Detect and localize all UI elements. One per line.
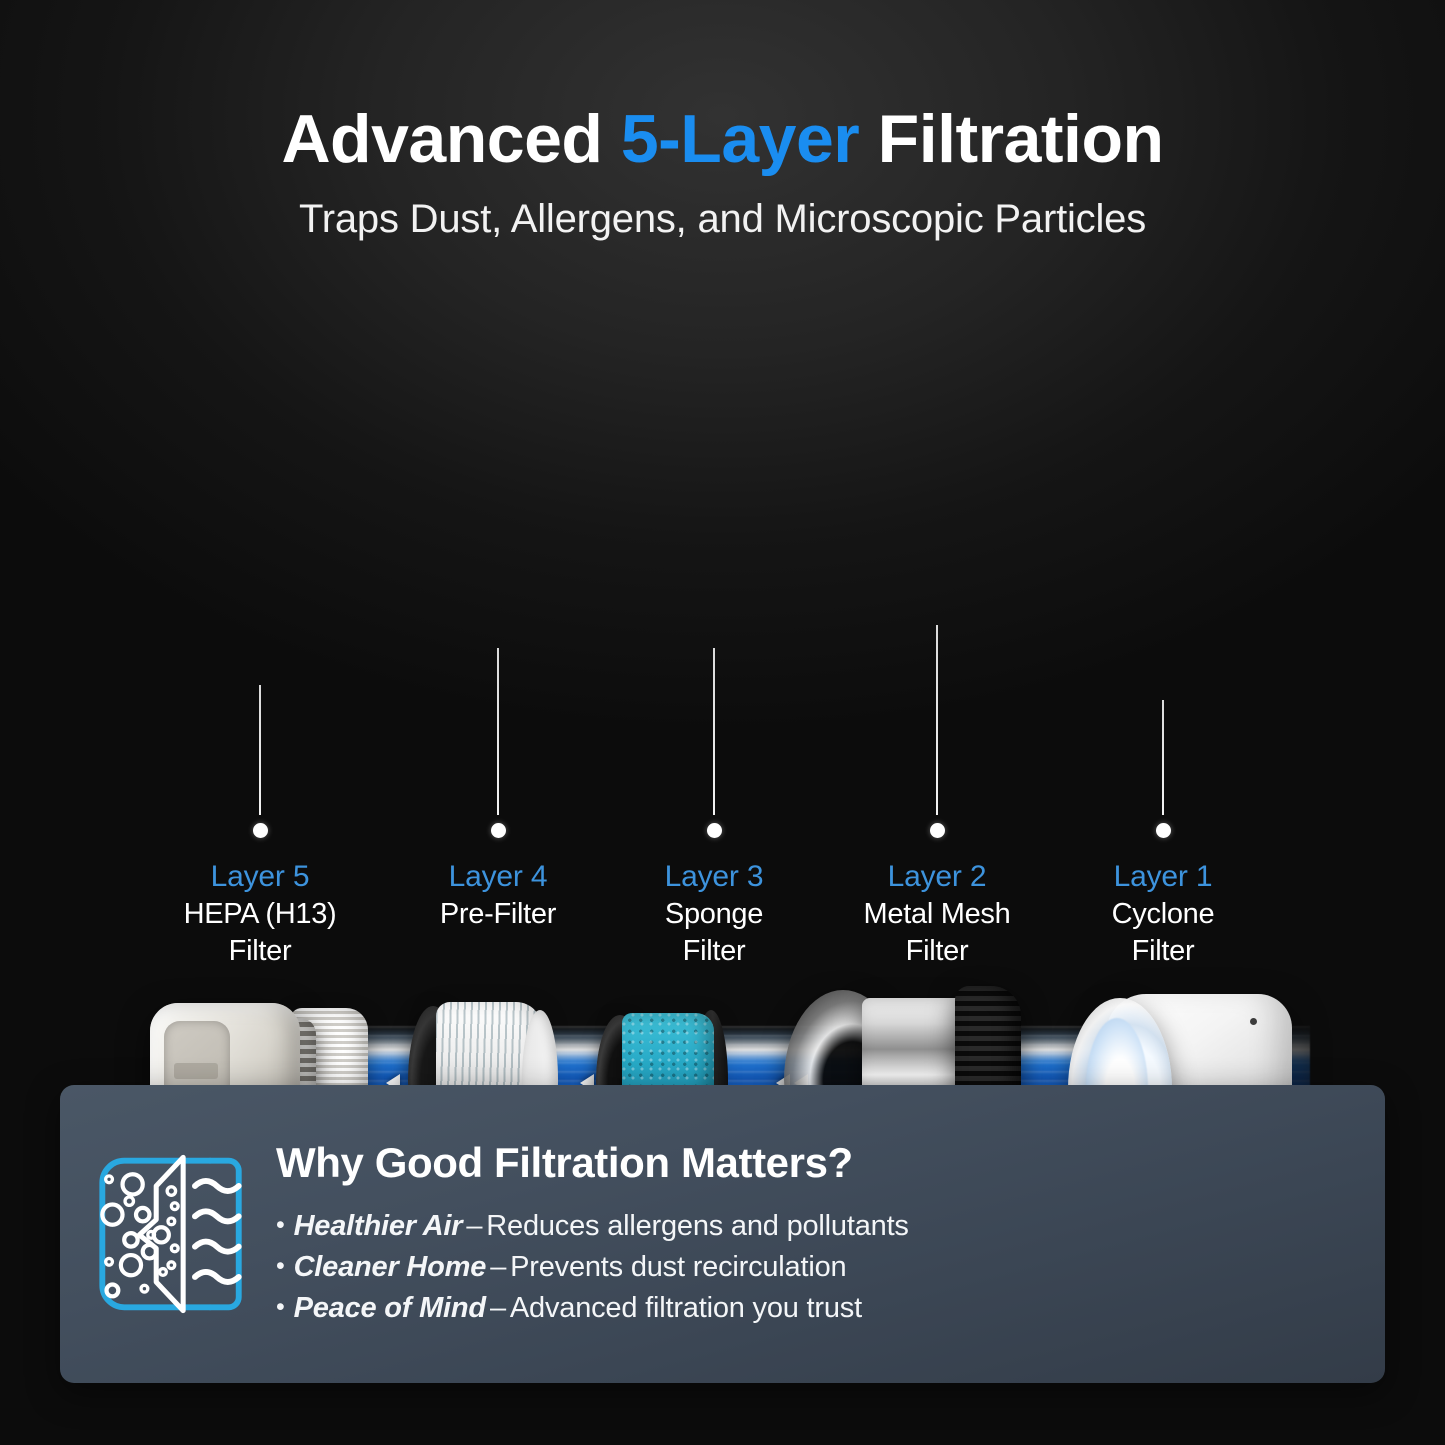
layer-name-line2: Filter (812, 933, 1062, 969)
layer-name-line1: Pre-Filter (373, 896, 623, 932)
title-lead: Advanced (281, 101, 620, 177)
layer-label-5: Layer 5 HEPA (H13) Filter (135, 858, 385, 969)
layer-name-line2: Filter (1038, 933, 1288, 969)
benefit-dash: – (486, 1292, 510, 1324)
layer-name-line1: Sponge (589, 896, 839, 932)
filtration-icon-wrap (60, 1085, 276, 1383)
air-filtration-membrane-icon (83, 1154, 253, 1314)
cyclone-vent-dot (1250, 1018, 1257, 1025)
benefit-text: Advanced filtration you trust (510, 1292, 862, 1324)
layer-name-line2: Filter (135, 933, 385, 969)
infographic-canvas: Advanced 5-Layer Filtration Traps Dust, … (0, 0, 1445, 1445)
layer-label-1: Layer 1 Cyclone Filter (1038, 858, 1288, 969)
benefit-dash: – (486, 1251, 510, 1283)
bullet-marker-icon: • (276, 1290, 285, 1326)
layer-labels: Layer 5 HEPA (H13) Filter Layer 4 Pre-Fi… (0, 858, 1445, 978)
title-tail: Filtration (859, 101, 1163, 177)
layer-name-line2: Filter (589, 933, 839, 969)
callout-dot (1156, 823, 1171, 838)
page-title: Advanced 5-Layer Filtration (0, 104, 1445, 175)
layer-number: Layer 2 (812, 858, 1062, 896)
callout-dot (491, 823, 506, 838)
benefit-item: •Cleaner Home–Prevents dust recirculatio… (276, 1247, 1345, 1288)
panel-title: Why Good Filtration Matters? (276, 1139, 1345, 1187)
callout-dot (253, 823, 268, 838)
callout-line (259, 685, 261, 815)
callout-line (713, 648, 715, 815)
layer-number: Layer 5 (135, 858, 385, 896)
page-subtitle: Traps Dust, Allergens, and Microscopic P… (0, 197, 1445, 242)
benefit-term: Healthier Air (294, 1210, 463, 1242)
callout-line (497, 648, 499, 815)
benefit-term: Peace of Mind (294, 1292, 486, 1324)
hepa-label-plate (174, 1063, 218, 1079)
layer-name-line1: Metal Mesh (812, 896, 1062, 932)
title-accent: 5-Layer (621, 101, 859, 177)
layer-name-line1: HEPA (H13) (135, 896, 385, 932)
benefit-term: Cleaner Home (294, 1251, 487, 1283)
layer-label-4: Layer 4 Pre-Filter (373, 858, 623, 933)
layer-number: Layer 4 (373, 858, 623, 896)
layer-number: Layer 1 (1038, 858, 1288, 896)
benefit-dash: – (462, 1210, 486, 1242)
callout-dot (707, 823, 722, 838)
layer-label-3: Layer 3 Sponge Filter (589, 858, 839, 969)
product-exploded-view (0, 470, 1445, 830)
callout-dot (930, 823, 945, 838)
layer-number: Layer 3 (589, 858, 839, 896)
panel-text-block: Why Good Filtration Matters? •Healthier … (276, 1139, 1385, 1330)
benefit-text: Reduces allergens and pollutants (486, 1210, 908, 1242)
layer-name-line1: Cyclone (1038, 896, 1288, 932)
layer-label-2: Layer 2 Metal Mesh Filter (812, 858, 1062, 969)
why-filtration-panel: Why Good Filtration Matters? •Healthier … (60, 1085, 1385, 1383)
benefit-item: •Healthier Air–Reduces allergens and pol… (276, 1206, 1345, 1247)
callout-line (936, 625, 938, 815)
header: Advanced 5-Layer Filtration Traps Dust, … (0, 104, 1445, 242)
bullet-marker-icon: • (276, 1208, 285, 1244)
callout-line (1162, 700, 1164, 815)
benefit-item: •Peace of Mind–Advanced filtration you t… (276, 1288, 1345, 1329)
benefit-text: Prevents dust recirculation (510, 1251, 846, 1283)
bullet-marker-icon: • (276, 1249, 285, 1285)
